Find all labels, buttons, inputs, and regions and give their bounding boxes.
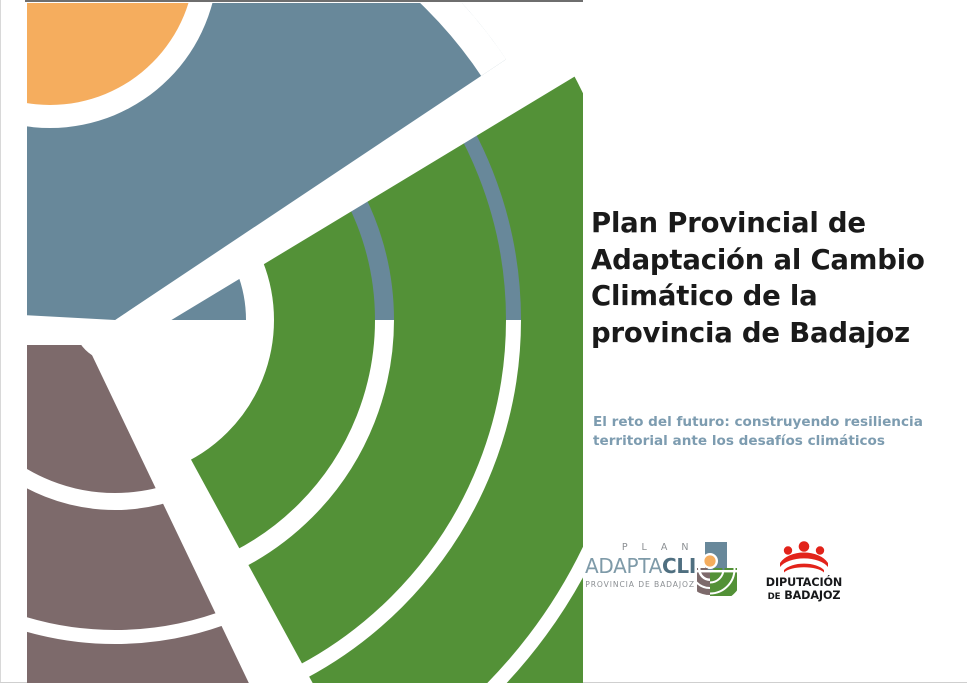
adaptaclima-main-text: ADAPTACLIMA — [585, 555, 695, 577]
page-title-line: provincia de Badajoz — [591, 315, 931, 352]
diputacion-de-text: DE — [768, 592, 781, 602]
diputacion-line-1: DIPUTACIÓN — [756, 576, 852, 589]
page-title-line: Adaptación al Cambio — [591, 242, 931, 279]
page-title: Plan Provincial de Adaptación al Cambio … — [591, 205, 931, 351]
page-subtitle: El reto del futuro: construyendo resilie… — [593, 413, 943, 452]
adaptaclima-adapta-text: ADAPTA — [585, 554, 662, 578]
logo-diputacion-badajoz: DIPUTACIÓN DE BADAJOZ — [756, 541, 852, 603]
adaptaclima-emblem-icon — [697, 542, 737, 596]
adaptaclima-plan-text: P L A N — [585, 541, 695, 555]
page-subtitle-line: El reto del futuro: construyendo resilie… — [593, 413, 943, 432]
cover-artwork — [0, 0, 583, 683]
adaptaclima-wordmark: P L A N ADAPTACLIMA PROVINCIA DE BADAJOZ — [585, 541, 695, 592]
diputacion-emblem-icon — [774, 541, 834, 573]
page-title-line: Climático de la — [591, 278, 931, 315]
cover-page: Plan Provincial de Adaptación al Cambio … — [0, 0, 967, 683]
cover-text-column: Plan Provincial de Adaptación al Cambio … — [591, 0, 967, 683]
logo-row: P L A N ADAPTACLIMA PROVINCIA DE BADAJOZ — [591, 537, 967, 607]
page-subtitle-line: territorial ante los desafíos climáticos — [593, 432, 943, 451]
diputacion-line-2: DE BADAJOZ — [756, 589, 852, 604]
adaptaclima-provincia-text: PROVINCIA DE BADAJOZ — [585, 577, 695, 592]
diputacion-badajoz-text: BADAJOZ — [784, 589, 840, 602]
page-title-line: Plan Provincial de — [591, 205, 931, 242]
logo-plan-adaptaclima: P L A N ADAPTACLIMA PROVINCIA DE BADAJOZ — [585, 541, 735, 603]
